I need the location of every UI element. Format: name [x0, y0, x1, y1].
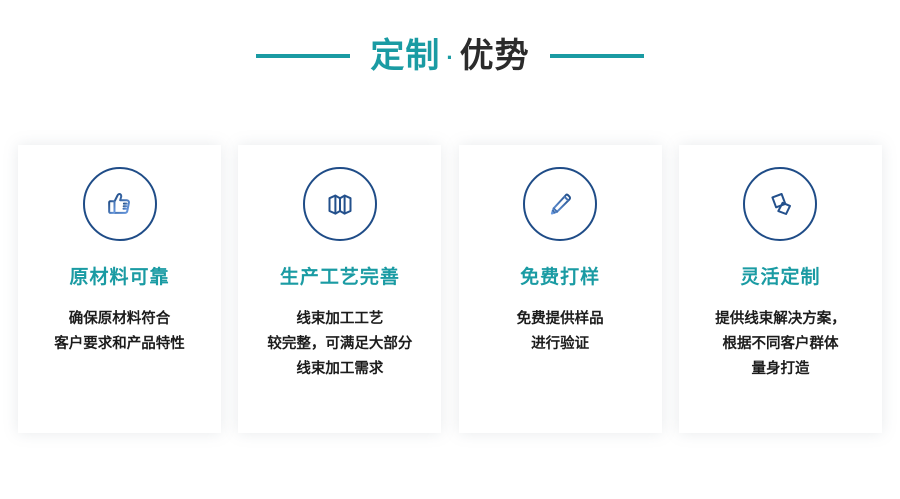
- feature-card-list: 原材料可靠 确保原材料符合 客户要求和产品特性: [18, 145, 882, 433]
- card-body-line: 客户要求和产品特性: [24, 332, 215, 357]
- feature-card-sampling[interactable]: 免费打样 免费提供样品 进行验证: [459, 145, 662, 433]
- icon-circle: [83, 167, 157, 241]
- icon-circle: [523, 167, 597, 241]
- card-title: 免费打样: [520, 268, 600, 287]
- card-body-line: 线束加工工艺: [244, 307, 435, 332]
- page-title-accent: 定制: [370, 39, 440, 73]
- card-body-line: 确保原材料符合: [24, 307, 215, 332]
- page-title-separator: ·: [440, 47, 459, 69]
- card-body-line: 提供线束解决方案，: [685, 307, 876, 332]
- page-title: 定制 · 优势: [370, 39, 529, 73]
- card-body-line: 进行验证: [465, 332, 656, 357]
- card-body-line: 较完整，可满足大部分: [244, 332, 435, 357]
- card-body-line: 量身打造: [685, 357, 876, 382]
- folded-map-icon: [320, 184, 360, 224]
- card-body-line: 线束加工需求: [244, 357, 435, 382]
- pencil-icon: [540, 184, 580, 224]
- card-body-line: 免费提供样品: [465, 307, 656, 332]
- icon-circle: [743, 167, 817, 241]
- section-heading: 定制 · 优势: [0, 28, 900, 84]
- advantages-section: 定制 · 优势: [0, 0, 900, 499]
- heading-rule-right: [550, 54, 644, 58]
- card-body: 免费提供样品 进行验证: [459, 307, 662, 357]
- thumbs-up-icon: [100, 184, 140, 224]
- feature-card-process[interactable]: 生产工艺完善 线束加工工艺 较完整，可满足大部分 线束加工需求: [238, 145, 441, 433]
- page-title-main: 优势: [460, 39, 530, 73]
- card-title: 灵活定制: [740, 268, 820, 287]
- icon-circle: [303, 167, 377, 241]
- card-body: 确保原材料符合 客户要求和产品特性: [18, 307, 221, 357]
- card-body: 线束加工工艺 较完整，可满足大部分 线束加工需求: [238, 307, 441, 382]
- heading-rule-left: [256, 54, 350, 58]
- card-body-line: 根据不同客户群体: [685, 332, 876, 357]
- stacked-sheets-icon: [760, 184, 800, 224]
- feature-card-customization[interactable]: 灵活定制 提供线束解决方案， 根据不同客户群体 量身打造: [679, 145, 882, 433]
- feature-card-material[interactable]: 原材料可靠 确保原材料符合 客户要求和产品特性: [18, 145, 221, 433]
- card-title: 原材料可靠: [69, 268, 169, 287]
- card-body: 提供线束解决方案， 根据不同客户群体 量身打造: [679, 307, 882, 382]
- card-title: 生产工艺完善: [280, 268, 400, 287]
